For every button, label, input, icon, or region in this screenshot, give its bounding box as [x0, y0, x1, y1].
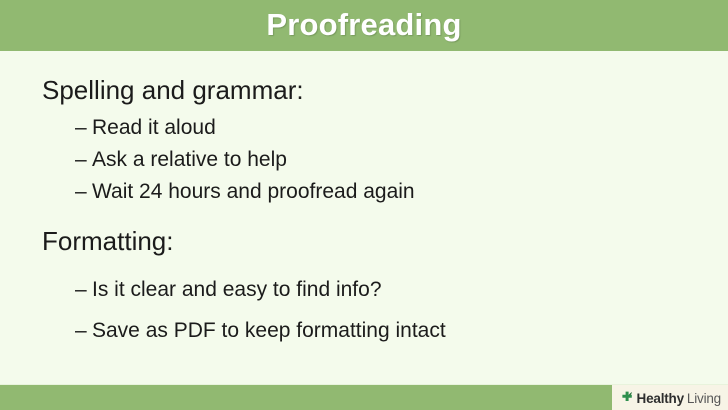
page-title: Proofreading — [266, 9, 461, 43]
bullet-list: – Is it clear and easy to find info? – S… — [0, 269, 728, 351]
list-item-label: Save as PDF to keep formatting intact — [92, 310, 446, 351]
dash-bullet-icon: – — [75, 310, 92, 351]
dash-bullet-icon: – — [75, 144, 92, 176]
list-item-label: Wait 24 hours and proofread again — [92, 176, 415, 208]
slide-body: Spelling and grammar: – Read it aloud – … — [0, 51, 728, 384]
logo-word-living: Living — [687, 391, 721, 406]
slide: Proofreading Spelling and grammar: – Rea… — [0, 0, 728, 410]
list-item: – Is it clear and easy to find info? — [0, 269, 728, 310]
dash-bullet-icon: – — [75, 176, 92, 208]
list-item-label: Ask a relative to help — [92, 144, 287, 176]
list-item: – Save as PDF to keep formatting intact — [0, 310, 728, 351]
bullet-list: – Read it aloud – Ask a relative to help… — [0, 112, 728, 208]
section-formatting: Formatting: – Is it clear and easy to fi… — [0, 225, 728, 351]
slide-header: Proofreading — [0, 0, 728, 51]
healthy-living-logo: Healthy Living — [612, 385, 728, 410]
list-item-label: Is it clear and easy to find info? — [92, 269, 382, 310]
section-heading: Spelling and grammar: — [0, 74, 728, 106]
list-item: – Ask a relative to help — [0, 144, 728, 176]
list-item-label: Read it aloud — [92, 112, 216, 144]
section-spelling-and-grammar: Spelling and grammar: – Read it aloud – … — [0, 74, 728, 208]
green-cross-leaf-icon — [620, 390, 635, 405]
logo-word-healthy: Healthy — [637, 391, 684, 406]
list-item: – Wait 24 hours and proofread again — [0, 176, 728, 208]
list-item: – Read it aloud — [0, 112, 728, 144]
dash-bullet-icon: – — [75, 112, 92, 144]
dash-bullet-icon: – — [75, 269, 92, 310]
section-heading: Formatting: — [0, 225, 728, 257]
slide-footer: Healthy Living — [0, 384, 728, 410]
